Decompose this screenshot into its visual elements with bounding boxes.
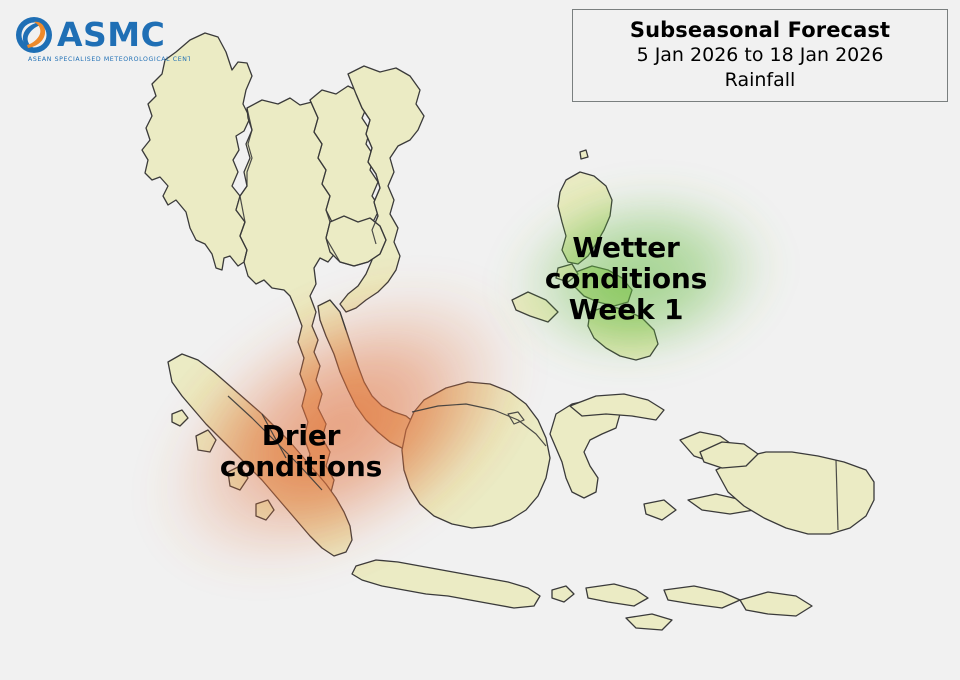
islets-batanes — [580, 150, 588, 159]
asmc-logo-mark-icon — [16, 17, 52, 53]
asmc-logo[interactable]: ASMC ASEAN SPECIALISED METEOROLOGICAL CE… — [10, 14, 190, 64]
asmc-logo-acronym: ASMC — [57, 15, 165, 54]
forecast-period: 5 Jan 2026 to 18 Jan 2026 — [637, 43, 884, 68]
asmc-logo-tagline: ASEAN SPECIALISED METEOROLOGICAL CENTRE — [28, 56, 190, 63]
forecast-variable: Rainfall — [725, 68, 796, 93]
forecast-heading: Subseasonal Forecast — [630, 18, 890, 43]
southeast-asia-map — [0, 0, 960, 680]
forecast-title-card: Subseasonal Forecast 5 Jan 2026 to 18 Ja… — [572, 9, 948, 102]
forecast-map-canvas: Drier conditions Wetter conditions Week … — [0, 0, 960, 680]
